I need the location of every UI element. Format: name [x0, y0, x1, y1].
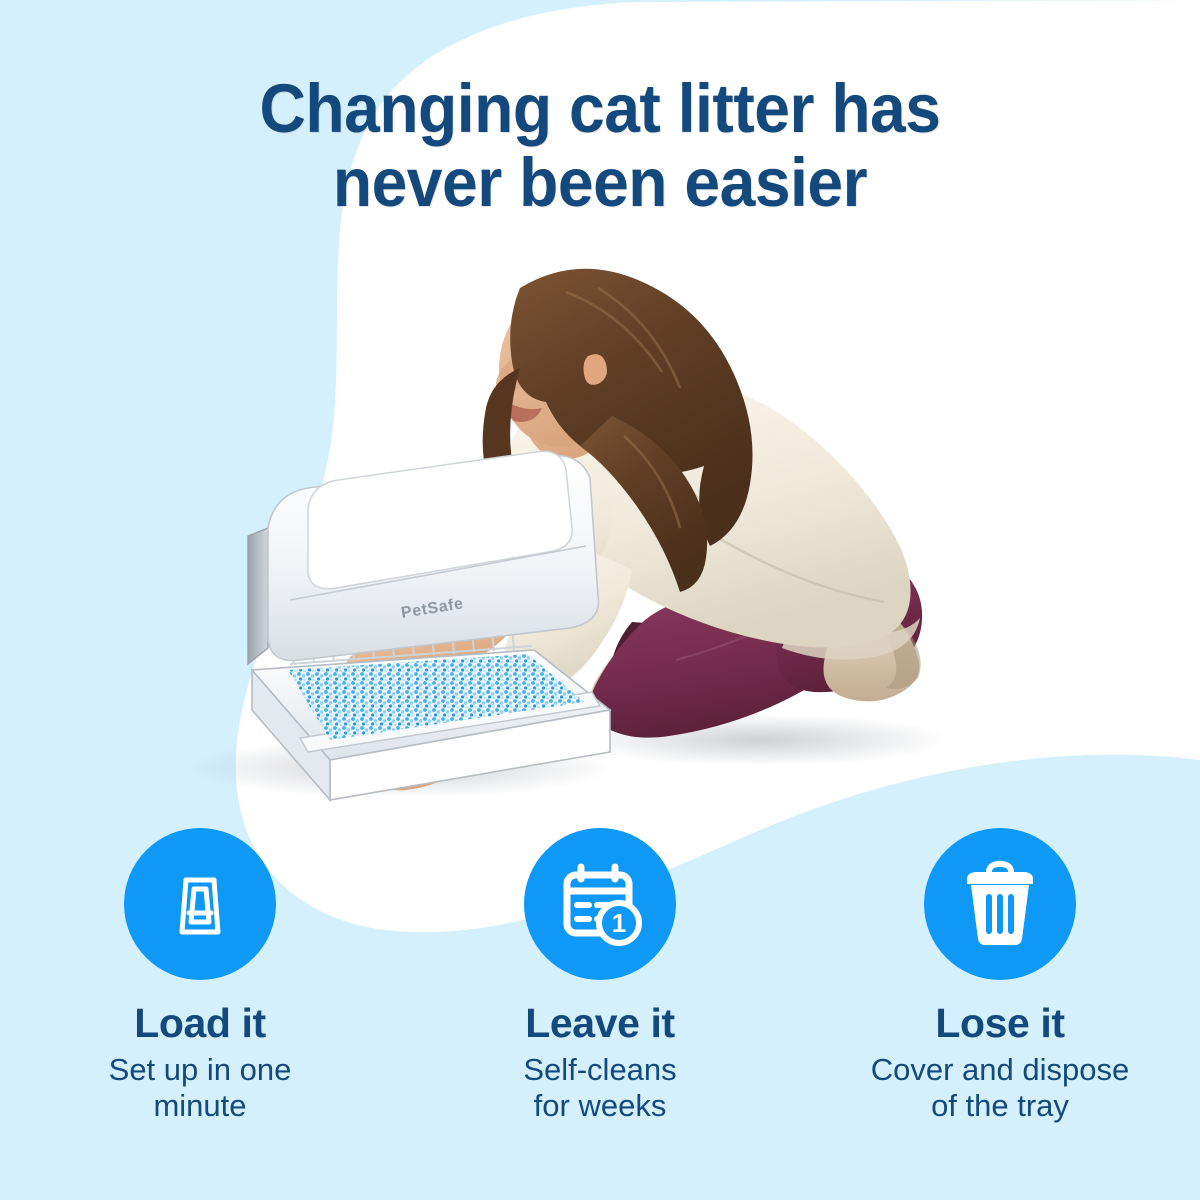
promo-graphic: Changing cat litter has never been easie… [0, 0, 1200, 1200]
hero-product-photo: PetSafe [0, 240, 1200, 840]
feature-icon-circle-load [124, 828, 276, 980]
trash-can-icon [955, 859, 1045, 949]
feature-sub-lose: Cover and dispose of the tray [871, 1052, 1130, 1124]
feature-sub-load-line2: minute [153, 1088, 246, 1123]
feature-load-it: Load it Set up in one minute [0, 828, 400, 1200]
feature-title-leave: Leave it [525, 1002, 675, 1045]
feature-row: Load it Set up in one minute 1 [0, 828, 1200, 1200]
calendar-one-icon: 1 [553, 857, 647, 951]
headline-line-1: Changing cat litter has [42, 72, 1158, 146]
feature-sub-lose-line2: of the tray [931, 1088, 1069, 1123]
feature-sub-leave-line1: Self-cleans [523, 1052, 676, 1087]
feature-title-load: Load it [134, 1002, 266, 1045]
litter-tray-icon [154, 858, 246, 950]
headline-line-2: never been easier [42, 146, 1158, 220]
feature-sub-lose-line1: Cover and dispose [871, 1052, 1130, 1087]
page-title: Changing cat litter has never been easie… [42, 72, 1158, 220]
feature-sub-leave: Self-cleans for weeks [523, 1052, 676, 1124]
feature-lose-it: Lose it Cover and dispose of the tray [800, 828, 1200, 1200]
hood-side-panel [248, 528, 268, 664]
litter-box-product: PetSafe [248, 451, 610, 800]
feature-sub-leave-line2: for weeks [534, 1088, 667, 1123]
feature-icon-circle-leave: 1 [524, 828, 676, 980]
feature-sub-load-line1: Set up in one [109, 1052, 292, 1087]
feature-leave-it: 1 Leave it Self-cleans for weeks [400, 828, 800, 1200]
feature-title-lose: Lose it [935, 1002, 1064, 1045]
feature-sub-load: Set up in one minute [109, 1052, 292, 1124]
calendar-badge-number: 1 [612, 908, 626, 938]
feature-icon-circle-lose [924, 828, 1076, 980]
